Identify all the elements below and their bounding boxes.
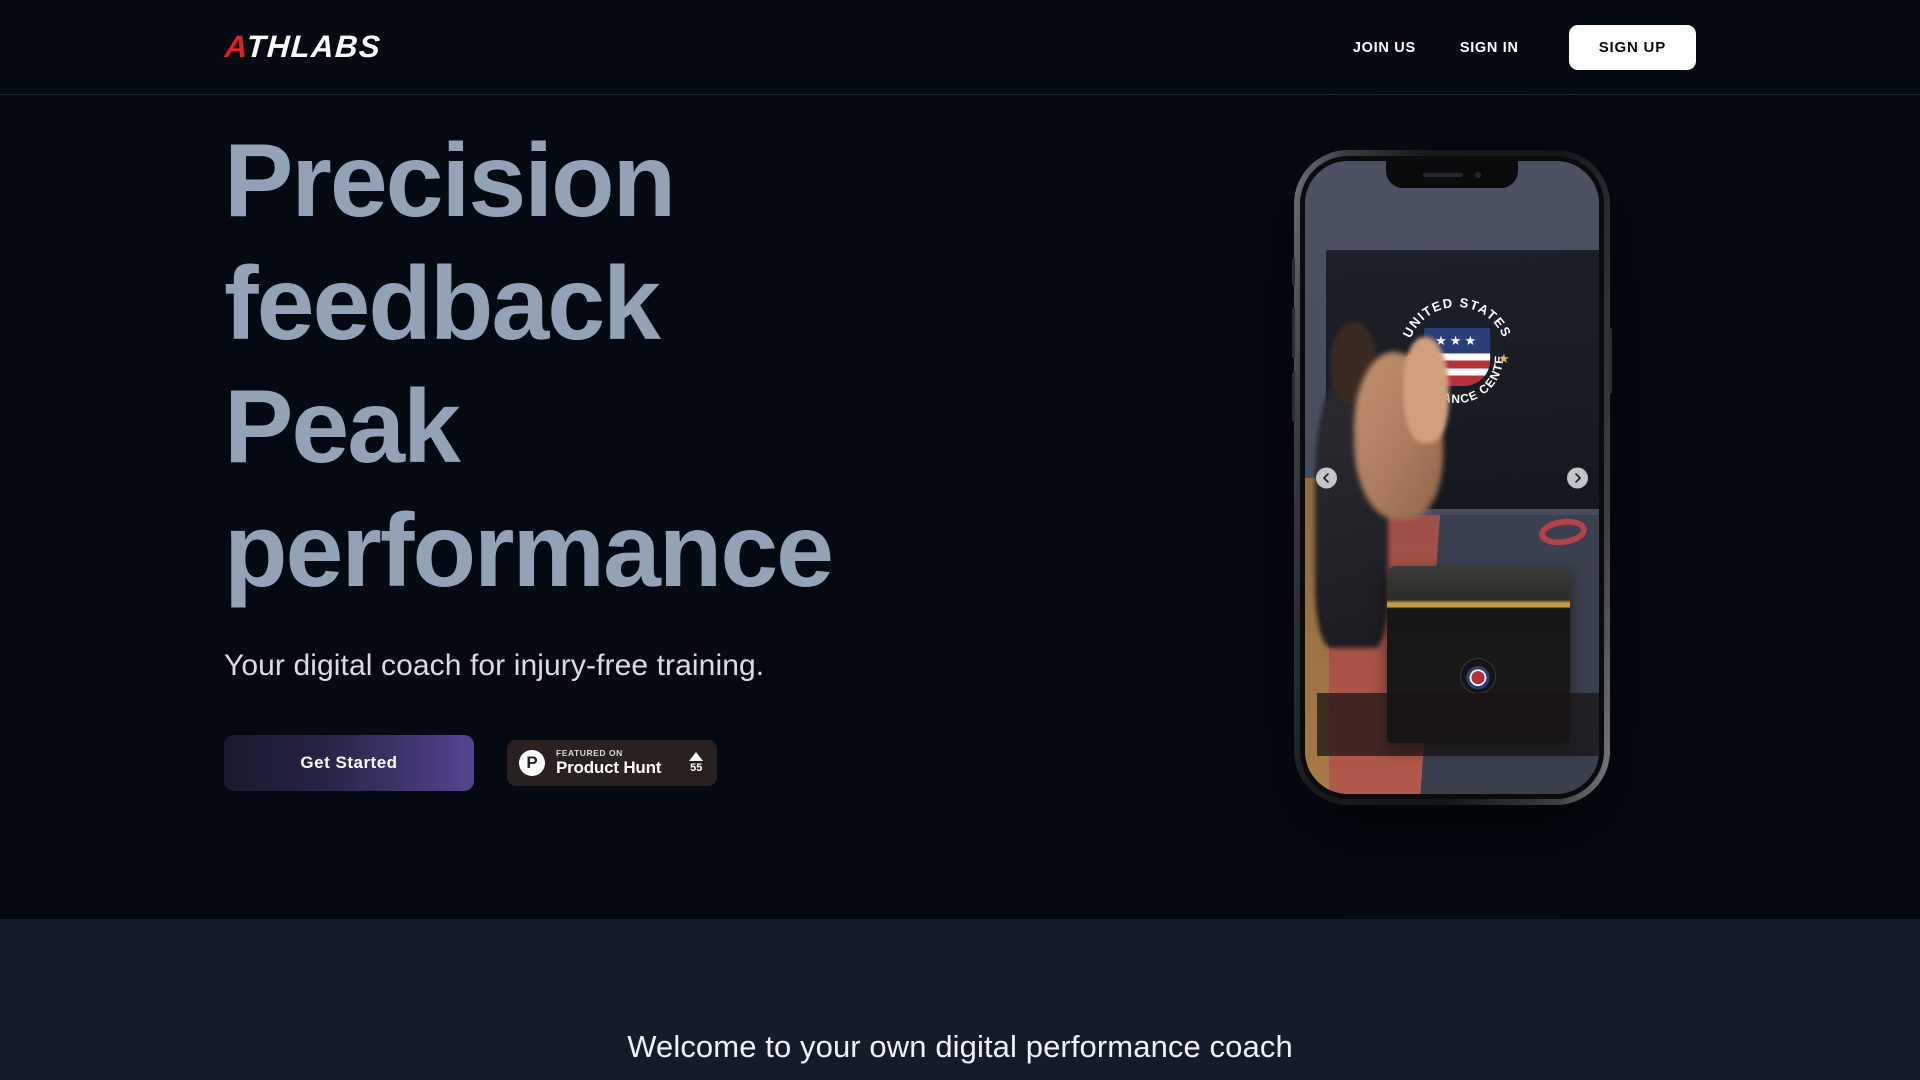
primary-nav: JOIN US SIGN IN SIGN UP [1331, 0, 1696, 95]
logo-accent-letter: A [224, 29, 248, 64]
phone-mockup: UNITED STATES PERFORMANCE CENTER ★ ★ [1294, 150, 1610, 805]
chevron-right-icon [1572, 472, 1583, 483]
hero-subtitle: Your digital coach for injury-free train… [224, 649, 1084, 683]
product-hunt-featured-label: FEATURED ON [556, 748, 661, 759]
hero-section: Precision feedback Peak performance Your… [0, 95, 1920, 919]
upvote-triangle-icon [689, 752, 703, 761]
sign-up-button[interactable]: SIGN UP [1569, 25, 1696, 70]
phone-volume-down-button [1292, 372, 1295, 422]
brand-logo[interactable]: ATHLABS [224, 29, 383, 65]
hero-title: Precision feedback Peak performance [224, 120, 1084, 613]
logo-text: THLABS [245, 29, 382, 64]
hero-copy: Precision feedback Peak performance Your… [224, 120, 1084, 791]
video-bottom-overlay [1317, 693, 1599, 756]
nav-join-us[interactable]: JOIN US [1331, 30, 1438, 66]
svg-text:★: ★ [1498, 351, 1510, 366]
carousel-prev-button[interactable] [1316, 467, 1337, 488]
phone-earpiece-speaker [1423, 173, 1463, 177]
product-hunt-icon: P [519, 750, 545, 776]
phone-frame: UNITED STATES PERFORMANCE CENTER ★ ★ [1294, 150, 1610, 805]
landing-page: ATHLABS JOIN US SIGN IN SIGN UP Precisio… [0, 0, 1920, 1080]
phone-screen: UNITED STATES PERFORMANCE CENTER ★ ★ [1305, 161, 1599, 794]
upvote-count: 55 [690, 763, 702, 774]
product-hunt-text: FEATURED ON Product Hunt [556, 748, 661, 778]
phone-front-camera [1475, 172, 1481, 178]
chevron-left-icon [1321, 472, 1332, 483]
site-header: ATHLABS JOIN US SIGN IN SIGN UP [0, 0, 1920, 95]
welcome-section: Welcome to your own digital performance … [0, 919, 1920, 1080]
product-hunt-badge[interactable]: P FEATURED ON Product Hunt 55 [507, 740, 717, 786]
welcome-section-title: Welcome to your own digital performance … [0, 1029, 1920, 1065]
get-started-button[interactable]: Get Started [224, 735, 474, 791]
phone-volume-up-button [1292, 308, 1295, 358]
phone-mute-switch [1292, 258, 1295, 286]
phone-power-button [1609, 328, 1612, 394]
athlete-hand [1403, 337, 1449, 443]
phone-notch [1386, 161, 1518, 188]
product-hunt-name: Product Hunt [556, 758, 661, 778]
carousel-next-button[interactable] [1567, 467, 1588, 488]
phone-bezel: UNITED STATES PERFORMANCE CENTER ★ ★ [1300, 156, 1604, 799]
hero-actions: Get Started P FEATURED ON Product Hunt 5… [224, 735, 1084, 791]
product-hunt-upvotes[interactable]: 55 [689, 752, 703, 774]
plyo-box-logo-icon [1460, 658, 1496, 694]
product-hunt-mark-letter: P [526, 754, 537, 771]
nav-sign-in[interactable]: SIGN IN [1438, 30, 1541, 66]
training-video[interactable]: UNITED STATES PERFORMANCE CENTER ★ ★ [1305, 161, 1599, 794]
